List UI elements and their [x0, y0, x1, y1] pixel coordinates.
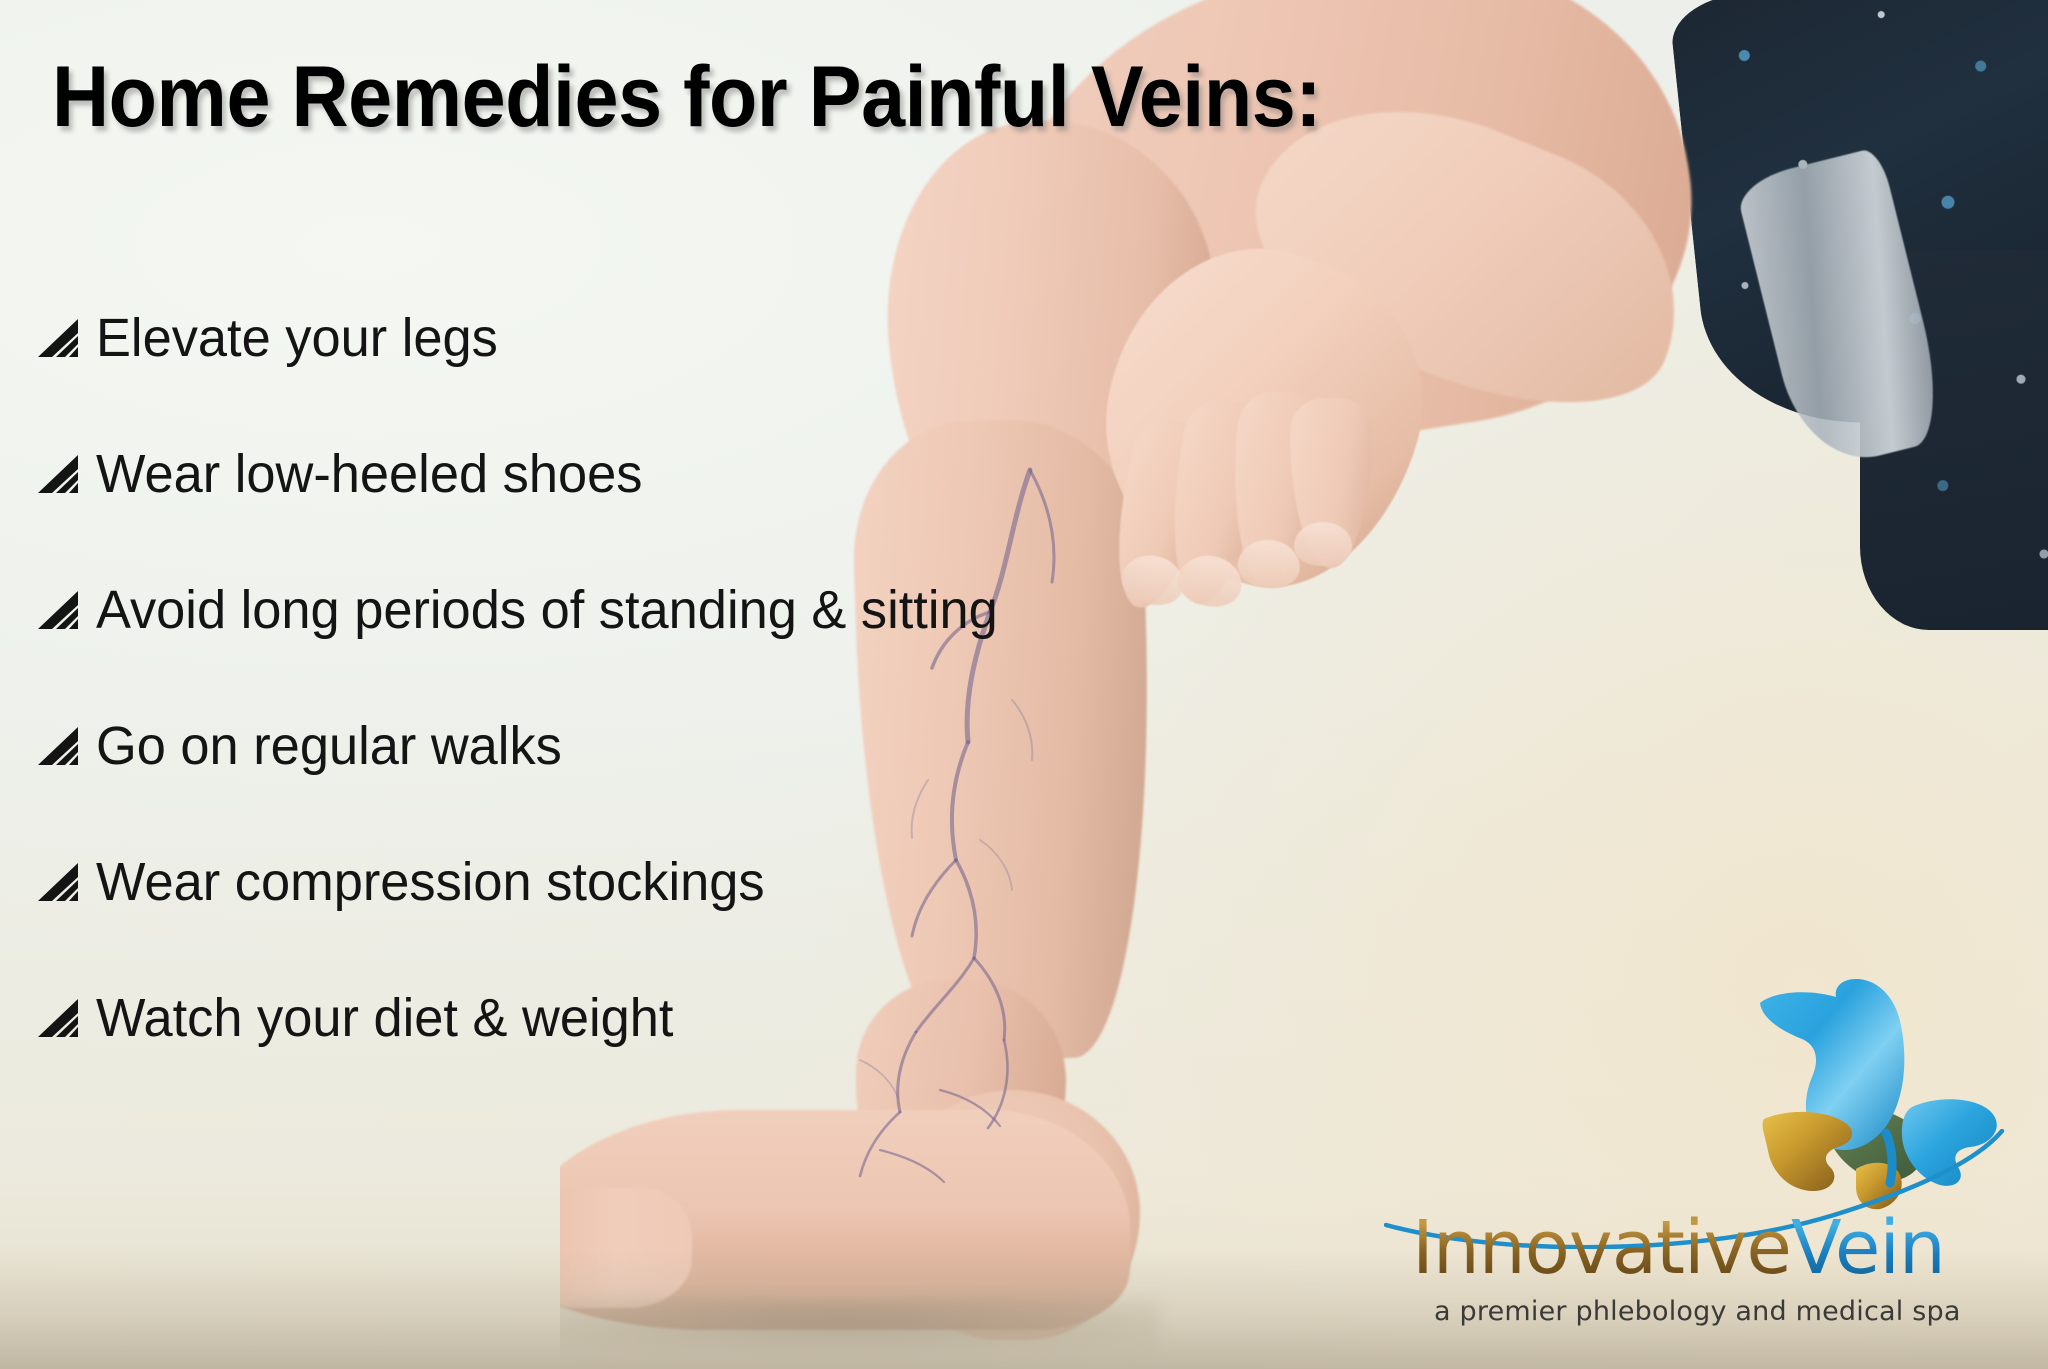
- hatched-triangle-bullet-icon: [38, 453, 82, 495]
- logo-word-vein: Vein: [1791, 1205, 1945, 1291]
- brand-logo[interactable]: InnovativeVein a premier phlebology and …: [1384, 961, 2014, 1341]
- hatched-triangle-bullet-icon: [38, 861, 82, 903]
- list-item: Elevate your legs: [38, 270, 1048, 406]
- fingernail: [1294, 522, 1352, 566]
- page-title: Home Remedies for Painful Veins:: [52, 52, 1321, 142]
- hatched-triangle-bullet-icon: [38, 997, 82, 1039]
- butterfly-logo-icon: [1716, 961, 2006, 1211]
- list-item: Wear compression stockings: [38, 814, 1048, 950]
- logo-word-innovative: Innovative: [1412, 1205, 1791, 1291]
- list-item-label: Wear compression stockings: [96, 855, 765, 909]
- remedy-list: Elevate your legs Wear low-heeled shoes: [38, 270, 1048, 1086]
- list-item-label: Elevate your legs: [96, 311, 498, 365]
- hatched-triangle-bullet-icon: [38, 589, 82, 631]
- logo-tagline: a premier phlebology and medical spa: [1434, 1296, 1961, 1327]
- list-item-label: Avoid long periods of standing & sitting: [96, 583, 998, 637]
- list-item: Avoid long periods of standing & sitting: [38, 542, 1048, 678]
- hatched-triangle-bullet-icon: [38, 317, 82, 359]
- list-item: Wear low-heeled shoes: [38, 406, 1048, 542]
- logo-wordmark: InnovativeVein: [1412, 1211, 1945, 1285]
- list-item: Watch your diet & weight: [38, 950, 1048, 1086]
- list-item-label: Wear low-heeled shoes: [96, 447, 642, 501]
- hatched-triangle-bullet-icon: [38, 725, 82, 767]
- poster-canvas: Home Remedies for Painful Veins: Elevate…: [0, 0, 2048, 1369]
- list-item-label: Watch your diet & weight: [96, 991, 673, 1045]
- list-item: Go on regular walks: [38, 678, 1048, 814]
- list-item-label: Go on regular walks: [96, 719, 562, 773]
